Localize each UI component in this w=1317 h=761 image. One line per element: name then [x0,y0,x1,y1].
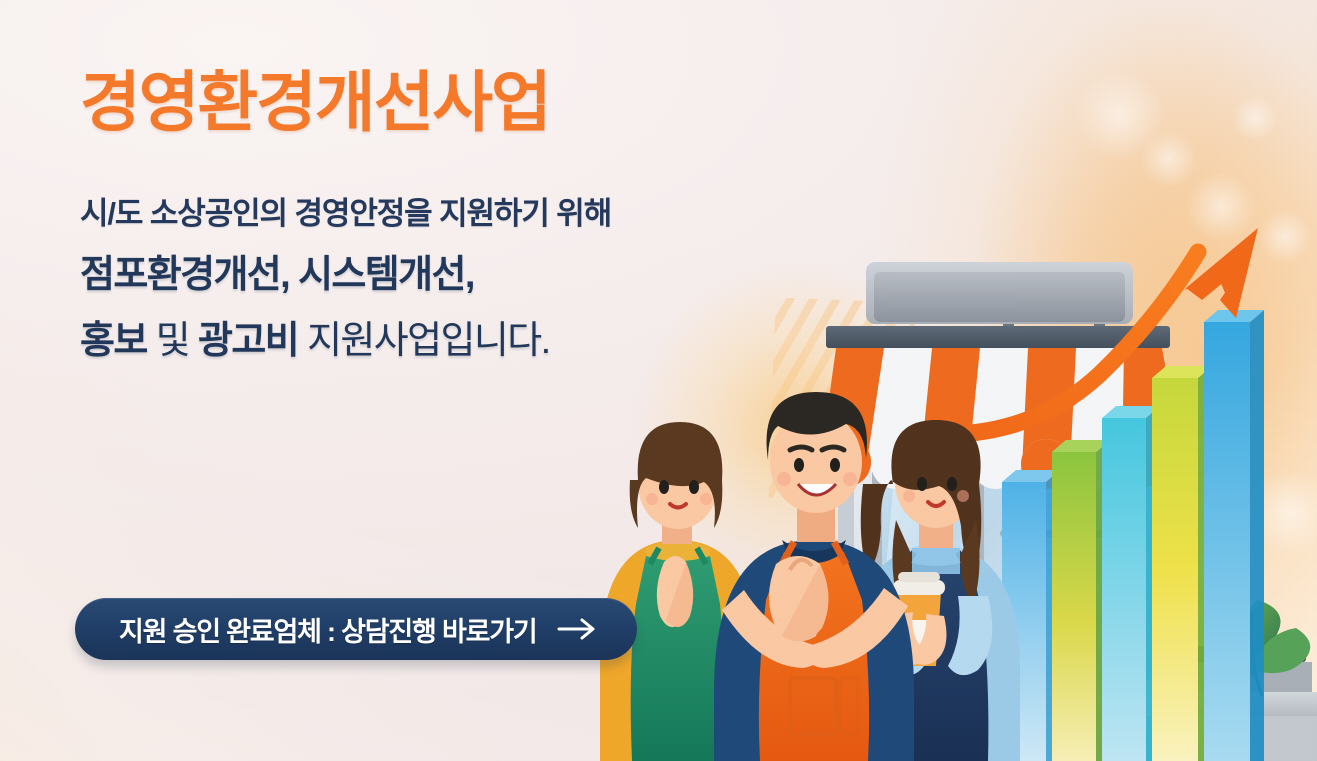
subtitle-line-3-normal-b: 지원사업입니다. [298,320,549,362]
subtitle-line-3-normal-a: 및 [147,320,198,362]
promo-banner: 경영환경개선사업 시/도 소상공인의 경영안정을 지원하기 위해 점포환경개선,… [0,0,1317,761]
bar-5 [1204,310,1264,761]
subtitle-lead: 시/도 소상공인의 경영안정을 지원하기 위해 [80,195,800,234]
arrow-right-icon [557,617,597,641]
page-title: 경영환경개선사업 [80,68,800,137]
subtitle-line-2-bold: 점포환경개선, 시스템개선, [80,254,474,296]
copy-block: 경영환경개선사업 시/도 소상공인의 경영안정을 지원하기 위해 점포환경개선,… [80,68,800,365]
bar-4 [1152,366,1212,761]
subtitle-line-3-bold-a: 홍보 [80,320,147,362]
cta-label: 지원 승인 완료엄체 : 상담진행 바로가기 [119,610,537,649]
subtitle-line-3: 홍보 및 광고비 지원사업입니다. [80,318,800,366]
bar-2 [1052,440,1110,761]
subtitle-line-2: 점포환경개선, 시스템개선, [80,252,800,300]
bar-3 [1102,406,1160,761]
subtitle-line-3-bold-b: 광고비 [198,320,298,362]
consultation-cta-button[interactable]: 지원 승인 완료엄체 : 상담진행 바로가기 [75,598,637,660]
